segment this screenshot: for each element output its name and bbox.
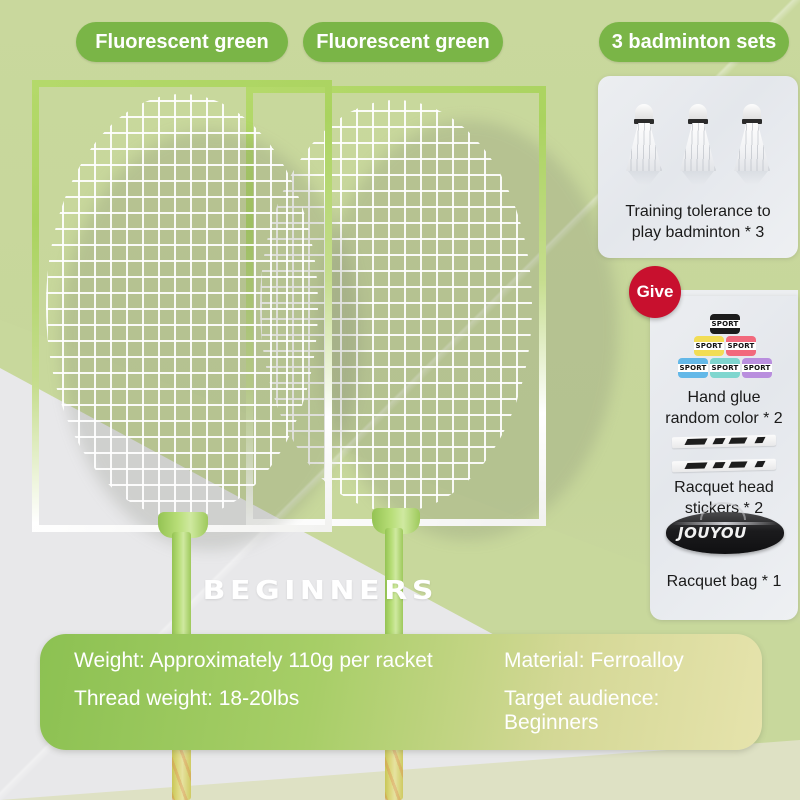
spec-row-1: Weight: Approximately 110g per racket Ma… (74, 649, 728, 673)
bag-brand-logo: JOUYOU (678, 524, 747, 542)
hand-glue-caption-line2: random color * 2 (650, 409, 798, 429)
grip-tape: SPORT (710, 314, 740, 334)
racket-left-head (32, 80, 332, 532)
product-image: BEGINNERS Fluorescent green Fluorescent … (0, 0, 800, 800)
racquet-head-sticker-image (672, 459, 776, 473)
give-badge: Give (629, 266, 681, 318)
label-racket-left: Fluorescent green (76, 22, 288, 62)
racket-left-strings-horizontal (46, 94, 318, 518)
spec-row-2: Thread weight: 18-20lbs Target audience:… (74, 687, 728, 735)
sticker-caption-line1: Racquet head (650, 478, 798, 498)
racket-left-shaft (172, 532, 191, 642)
racket-shaft-text: BEGINNERS (203, 576, 438, 606)
label-set-count: 3 badminton sets (599, 22, 789, 62)
shuttlecock-caption-line2: play badminton * 3 (598, 223, 798, 243)
shuttlecock-caption-line1: Training tolerance to (598, 202, 798, 222)
grip-tape: SPORT (694, 336, 724, 356)
label-racket-right: Fluorescent green (303, 22, 503, 62)
grip-tape: SPORT (742, 358, 772, 378)
spec-banner: Weight: Approximately 110g per racket Ma… (40, 634, 762, 750)
grip-tape: SPORT (710, 358, 740, 378)
shuttlecock-panel: Training tolerance to play badminton * 3 (598, 76, 798, 258)
hand-glue-caption-line1: Hand glue (650, 388, 798, 408)
shuttlecock-icon (730, 104, 774, 176)
spec-weight: Weight: Approximately 110g per racket (74, 649, 504, 673)
spec-material: Material: Ferroalloy (504, 649, 728, 673)
spec-thread-weight: Thread weight: 18-20lbs (74, 687, 504, 735)
grip-tape: SPORT (678, 358, 708, 378)
shuttlecock-icon (622, 104, 666, 176)
hand-glue-image: SPORT SPORT SPORT SPORT SPORT SPORT (676, 314, 774, 384)
accessories-panel: SPORT SPORT SPORT SPORT SPORT SPORT Hand… (650, 296, 798, 620)
spec-target-audience: Target audience: Beginners (504, 687, 728, 735)
grip-tape: SPORT (726, 336, 756, 356)
bag-caption: Racquet bag * 1 (650, 572, 798, 592)
shuttlecock-icon (676, 104, 720, 176)
racquet-head-sticker-image (672, 435, 776, 449)
